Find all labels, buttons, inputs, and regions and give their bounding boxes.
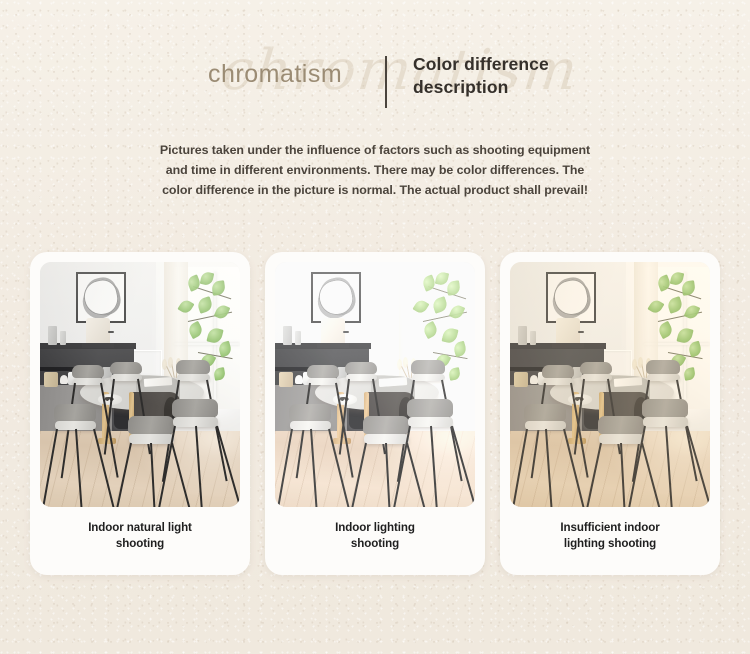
comparison-card: Insufficient indoor lighting shooting (500, 252, 720, 575)
leaf (218, 341, 234, 358)
tray (82, 343, 114, 348)
leaf (656, 321, 674, 340)
chair-back (642, 399, 688, 417)
chair-back (407, 399, 453, 417)
folding-chair (110, 362, 142, 391)
product-photo (40, 262, 240, 507)
leaf (206, 327, 223, 345)
leaf (196, 296, 213, 314)
chair-back (128, 416, 174, 434)
coffee-machine (321, 318, 345, 345)
chair-back (176, 360, 210, 374)
leaf (688, 341, 704, 358)
chair-back (110, 362, 142, 374)
folding-chair (542, 365, 574, 397)
comparison-card: Indoor natural light shooting (30, 252, 250, 575)
chair-back (646, 360, 680, 374)
chair-back (54, 404, 96, 421)
decor-vase (530, 331, 536, 346)
folding-chair (72, 365, 104, 397)
toaster (279, 372, 293, 387)
tray (552, 343, 584, 348)
folding-chair (289, 404, 331, 446)
product-photo (275, 262, 475, 507)
folding-chair (642, 399, 688, 443)
leaf (669, 271, 683, 286)
tray (317, 343, 349, 348)
leaf (453, 341, 469, 358)
toaster (44, 372, 58, 387)
page-title: Color difference description (413, 53, 549, 99)
decor-vase (295, 331, 301, 346)
leaf (421, 321, 439, 340)
leaf (683, 367, 696, 380)
chair-back (289, 404, 331, 421)
folding-chair (172, 399, 218, 443)
folding-chair (524, 404, 566, 446)
leaf (214, 303, 231, 321)
comparison-card-list: Indoor natural light shooting (30, 252, 720, 575)
chair-back (598, 416, 644, 434)
scene-dining-room (275, 262, 475, 507)
chair-back (580, 362, 612, 374)
folding-chair (128, 416, 174, 460)
folding-chair (363, 416, 409, 460)
toaster (514, 372, 528, 387)
leaf (178, 298, 195, 315)
leaf (648, 298, 665, 315)
leaf (446, 280, 461, 296)
decor-vase (518, 326, 527, 346)
folding-chair (598, 416, 644, 460)
chair-back (524, 404, 566, 421)
card-caption: Indoor lighting shooting (335, 520, 415, 553)
brand-title: chromatism (208, 60, 342, 89)
leaf (676, 327, 693, 345)
card-caption: Insufficient indoor lighting shooting (560, 520, 659, 553)
leaf (431, 296, 448, 314)
folding-chair (345, 362, 377, 391)
folding-chair (407, 399, 453, 443)
leaf (186, 321, 204, 340)
leaf (413, 298, 430, 315)
cups (530, 375, 538, 385)
disclaimer-text: Pictures taken under the influence of fa… (0, 140, 750, 200)
chair-seat (412, 374, 445, 382)
scene-dining-room (40, 262, 240, 507)
folding-chair (307, 365, 339, 397)
folding-chair (176, 360, 210, 394)
chair-seat (177, 374, 210, 382)
chair-back (345, 362, 377, 374)
header-divider (385, 56, 387, 108)
leaf (681, 280, 696, 296)
scene-dining-room (510, 262, 710, 507)
leaf (666, 296, 683, 314)
pampas-plume (397, 359, 402, 370)
chair-back (72, 365, 104, 378)
chair-back (307, 365, 339, 378)
leaf (213, 367, 226, 380)
leaf (434, 271, 448, 286)
decor-vase (283, 326, 292, 346)
folding-chair (411, 360, 445, 394)
comparison-card: Indoor lighting shooting (265, 252, 485, 575)
decor-vase (48, 326, 57, 346)
decor-vase (60, 331, 66, 346)
folding-chair (580, 362, 612, 391)
coffee-machine (556, 318, 580, 345)
cups (60, 375, 68, 385)
chair-back (411, 360, 445, 374)
chair-seat (647, 374, 680, 382)
chair-back (542, 365, 574, 378)
cups (295, 375, 303, 385)
leaf (211, 280, 226, 296)
folding-chair (646, 360, 680, 394)
chair-back (363, 416, 409, 434)
coffee-machine (86, 318, 110, 345)
card-caption: Indoor natural light shooting (88, 520, 192, 553)
product-photo (510, 262, 710, 507)
folding-chair (54, 404, 96, 446)
leaf (448, 367, 461, 380)
pampas-plume (632, 359, 637, 370)
leaf (441, 327, 458, 345)
section-header: chromatism chromatism Color difference d… (0, 36, 750, 110)
leaf (684, 303, 701, 321)
leaf (199, 271, 213, 286)
leaf (449, 303, 466, 321)
chair-back (172, 399, 218, 417)
pampas-plume (162, 359, 167, 370)
